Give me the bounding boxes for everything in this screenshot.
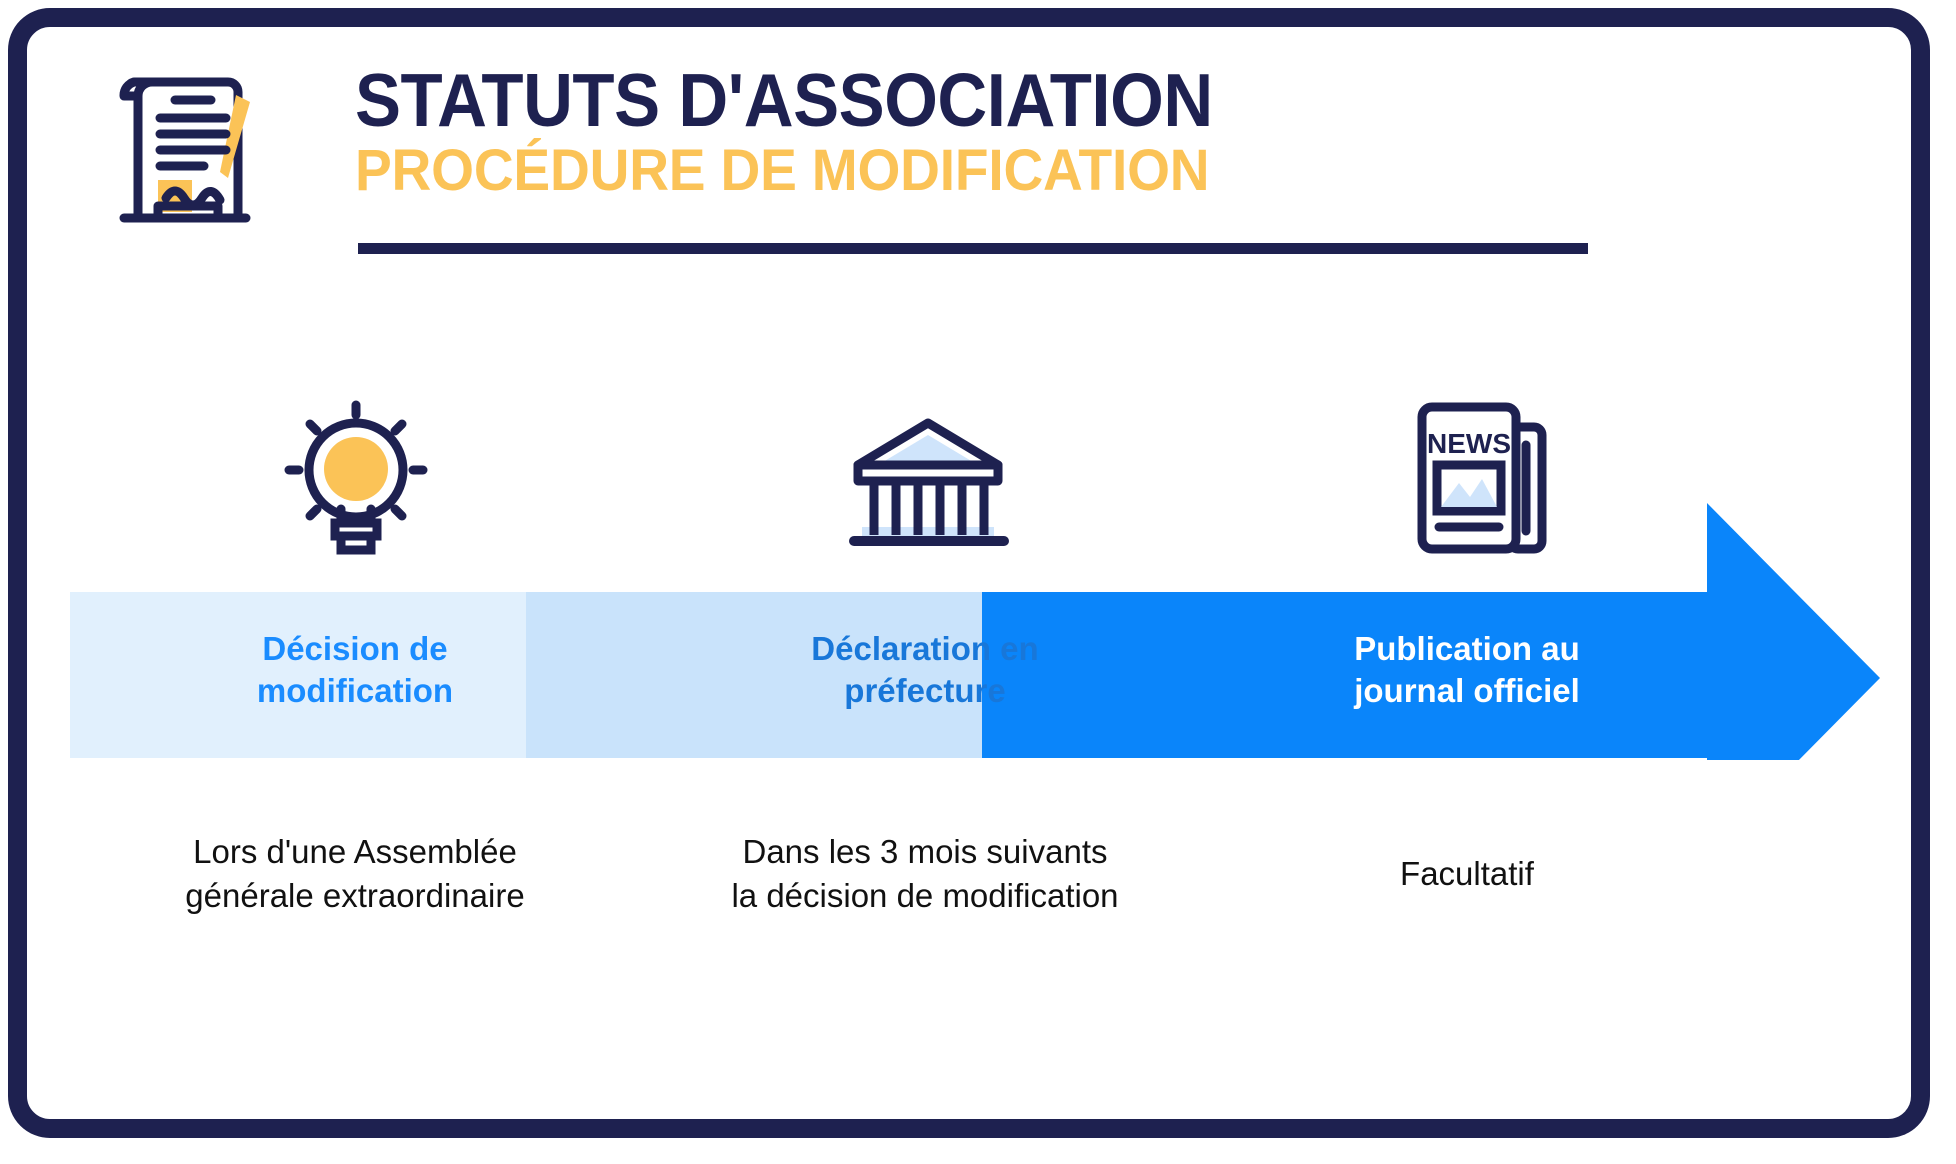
arrow-segment-1-label: Décision de modification xyxy=(70,628,640,712)
title-main: STATUTS D'ASSOCIATION xyxy=(355,62,1514,139)
infographic-canvas: STATUTS D'ASSOCIATION PROCÉDURE DE MODIF… xyxy=(0,0,1956,1164)
title-subtitle: PROCÉDURE DE MODIFICATION xyxy=(355,139,1552,204)
step-2-caption: Dans les 3 mois suivants la décision de … xyxy=(640,830,1210,917)
step-3-caption: Facultatif xyxy=(1212,852,1722,896)
arrow-segment-2-label: Déclaration en préfecture xyxy=(640,628,1210,712)
scroll-document-pen-icon xyxy=(100,60,270,230)
arrow-segment-3-label: Publication au journal officiel xyxy=(1212,628,1722,712)
step-1-caption: Lors d'une Assemblée générale extraordin… xyxy=(70,830,640,917)
newspaper-masthead-text: NEWS xyxy=(1427,428,1511,459)
page-title: STATUTS D'ASSOCIATION PROCÉDURE DE MODIF… xyxy=(355,62,1615,203)
title-underline-rule xyxy=(358,243,1588,254)
